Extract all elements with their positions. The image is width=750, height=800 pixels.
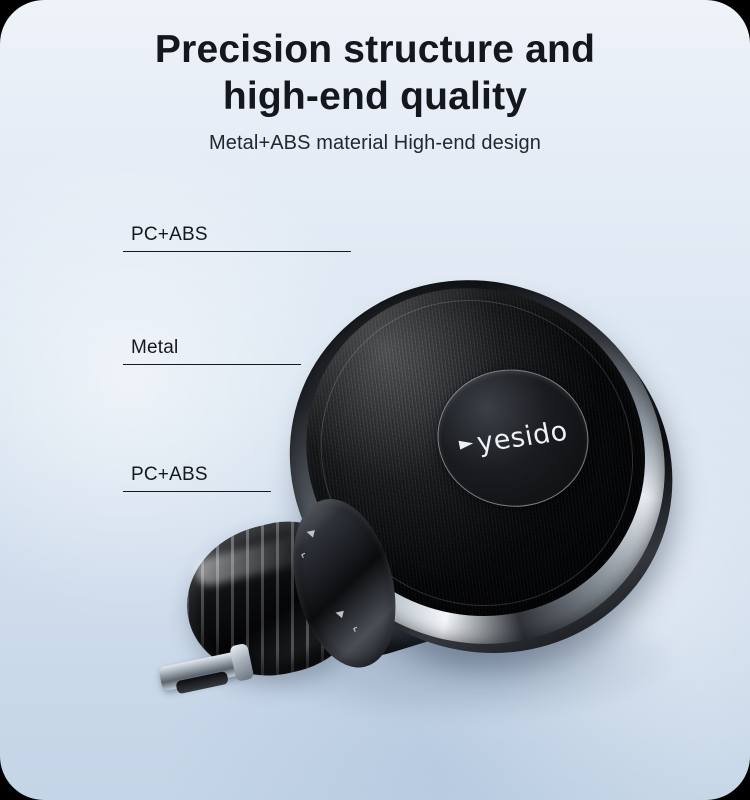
arrow-up-icon: ⌃ — [298, 549, 314, 563]
brand-logo: yesido — [456, 417, 570, 459]
callout-label: PC+ABS — [131, 224, 208, 246]
leader-line — [123, 251, 351, 252]
callout-label: Metal — [131, 337, 178, 359]
leader-line — [123, 364, 301, 365]
callout-label: PC+ABS — [131, 464, 208, 486]
product-feature-card: Precision structure and high-end quality… — [0, 0, 750, 800]
unlock-arrow-down-icon: ⌄ — [350, 623, 366, 637]
clip-slot — [175, 671, 229, 695]
lock-arrow-up-icon: ▲ — [302, 525, 318, 541]
leader-line — [123, 491, 271, 492]
brand-name: yesido — [475, 417, 570, 456]
arrow-down-icon: ▼ — [332, 606, 348, 622]
flag-icon — [457, 436, 477, 454]
product-illustration: yesido ▲ ⌃ ▼ ⌄ — [0, 0, 750, 800]
vent-clip — [156, 637, 257, 707]
